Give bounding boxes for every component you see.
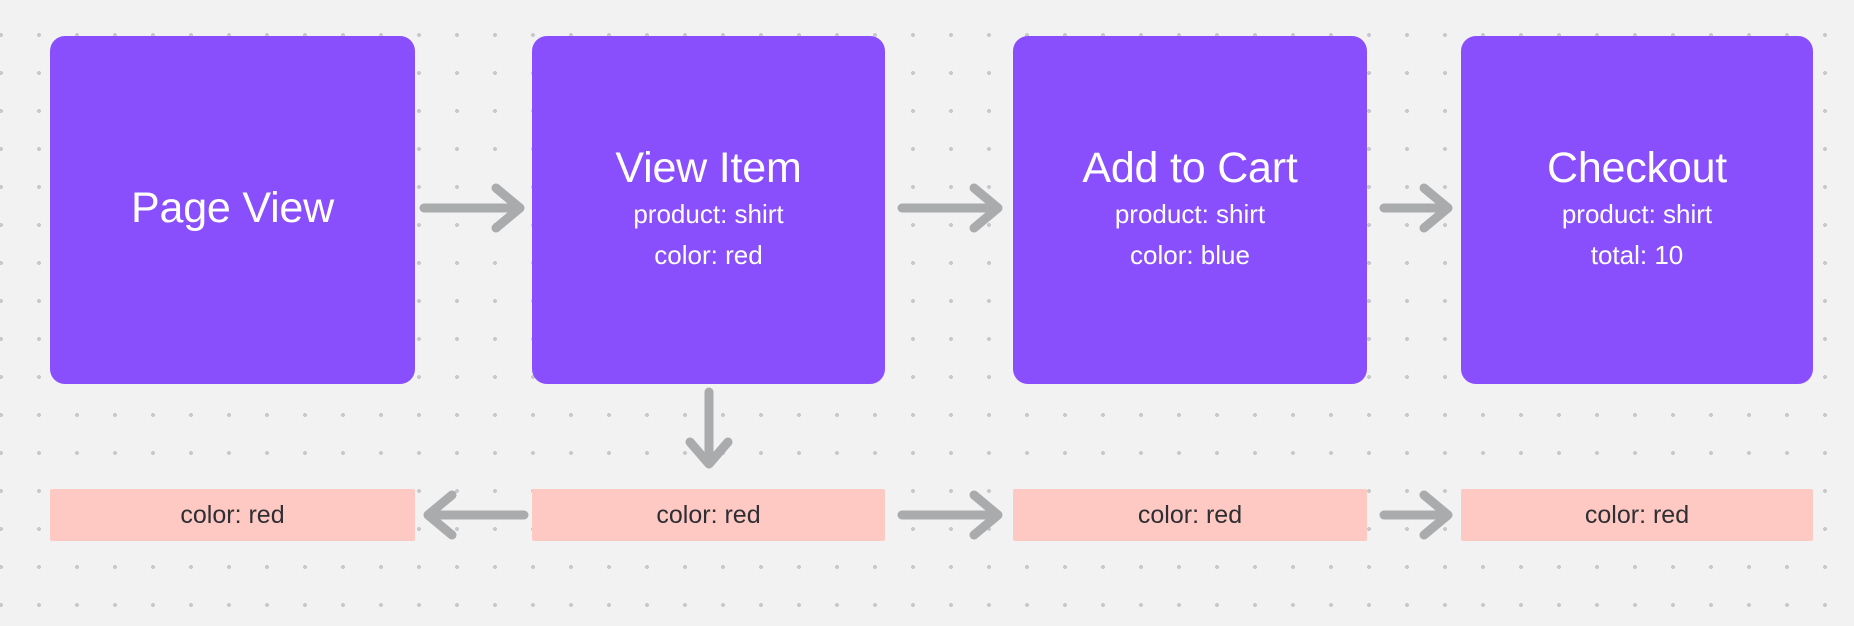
property-node-label: color: red [1138, 503, 1242, 528]
arrow-property-node-2-to-property-node-3[interactable] [898, 493, 1006, 537]
property-node-2[interactable]: color: red [532, 489, 885, 541]
event-node-view-item[interactable]: View Item product: shirt color: red [532, 36, 885, 384]
event-property: total: 10 [1591, 235, 1684, 276]
event-title: Page View [131, 185, 334, 231]
event-title: Add to Cart [1082, 145, 1297, 191]
flow-diagram-canvas[interactable]: Page View View Item product: shirt color… [0, 0, 1854, 626]
arrow-view-item-to-add-to-cart[interactable] [898, 186, 1006, 230]
arrow-property-node-3-to-property-node-4[interactable] [1380, 493, 1456, 537]
arrow-property-node-2-to-property-node-1[interactable] [420, 493, 528, 537]
property-node-3[interactable]: color: red [1013, 489, 1367, 541]
event-node-page-view[interactable]: Page View [50, 36, 415, 384]
event-property: product: shirt [633, 194, 783, 235]
event-property: color: red [654, 235, 762, 276]
event-properties: product: shirt color: blue [1115, 194, 1265, 275]
property-node-label: color: red [1585, 503, 1689, 528]
property-node-label: color: red [180, 503, 284, 528]
property-node-1[interactable]: color: red [50, 489, 415, 541]
event-property: color: blue [1130, 235, 1250, 276]
arrow-view-item-to-property-node-2[interactable] [686, 390, 732, 470]
event-node-add-to-cart[interactable]: Add to Cart product: shirt color: blue [1013, 36, 1367, 384]
event-title: View Item [615, 145, 801, 191]
event-properties: product: shirt color: red [633, 194, 783, 275]
event-properties: product: shirt total: 10 [1562, 194, 1712, 275]
event-node-checkout[interactable]: Checkout product: shirt total: 10 [1461, 36, 1813, 384]
property-node-label: color: red [656, 503, 760, 528]
event-property: product: shirt [1115, 194, 1265, 235]
event-title: Checkout [1547, 145, 1727, 191]
property-node-4[interactable]: color: red [1461, 489, 1813, 541]
arrow-add-to-cart-to-checkout[interactable] [1380, 186, 1456, 230]
arrow-page-view-to-view-item[interactable] [420, 186, 528, 230]
event-property: product: shirt [1562, 194, 1712, 235]
